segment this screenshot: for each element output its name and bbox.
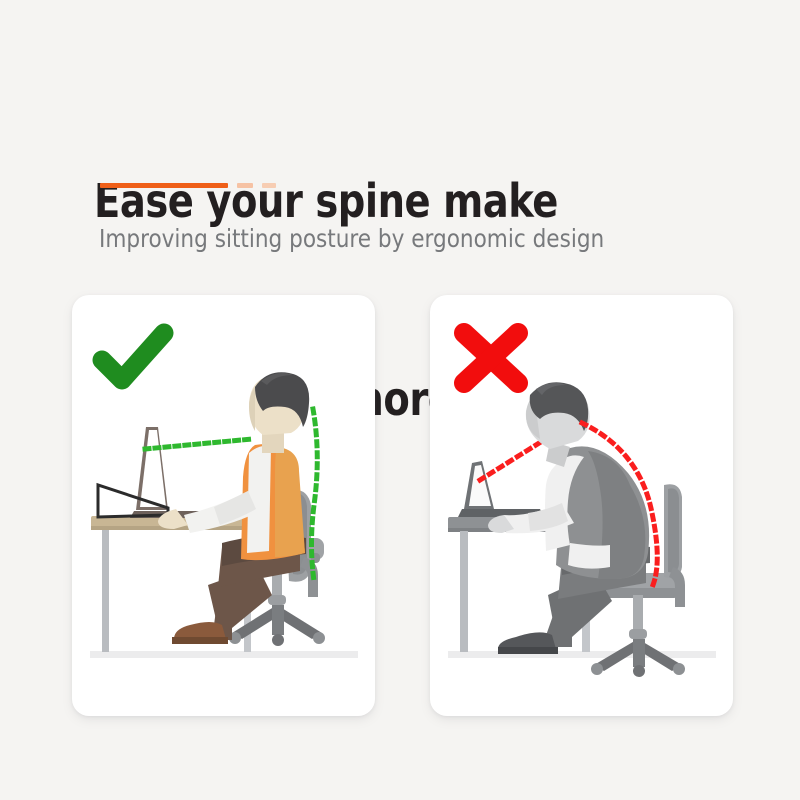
checkmark-icon [102,333,164,380]
eyeline-guide-good [145,439,252,449]
person-bad-posture [488,382,650,654]
floor-strip [90,651,358,658]
person-good-posture [158,372,309,644]
poster-root: Ease your spine make office work more co… [0,0,800,800]
floor-strip [448,651,716,658]
card-bad-posture [430,295,733,716]
laptop [98,427,210,518]
comparison-cards [0,0,800,800]
close-icon [464,333,518,383]
card-good-posture [72,295,375,716]
